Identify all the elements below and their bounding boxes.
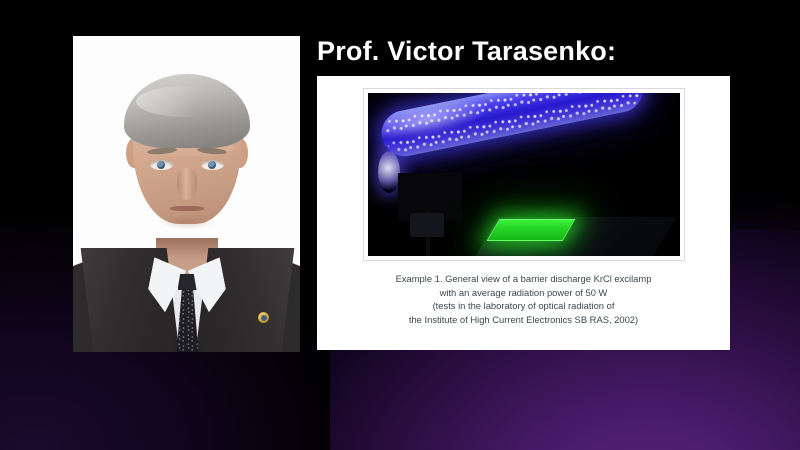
excilamp-photo bbox=[368, 93, 680, 256]
sponsor-logo-bar: FAR UVC AFRICA GMY SAFEGLO ™ EDEN PARK I… bbox=[0, 358, 800, 450]
portrait-eye-right bbox=[201, 160, 224, 170]
portrait-tie-knot bbox=[178, 274, 197, 290]
caption-line-3: (tests in the laboratory of optical radi… bbox=[317, 299, 730, 313]
portrait-chin-shadow bbox=[160, 214, 214, 230]
speaker-portrait bbox=[73, 36, 300, 352]
portrait-lapel-pin bbox=[258, 312, 269, 323]
excilamp-control-box bbox=[410, 213, 444, 237]
caption-line-1: Example 1. General view of a barrier dis… bbox=[317, 272, 730, 286]
portrait-mouth bbox=[170, 206, 204, 211]
fluorescent-plate bbox=[487, 219, 576, 241]
excilamp-end-cap-icon bbox=[378, 151, 400, 193]
excilamp-tube-icon bbox=[377, 93, 647, 161]
slide-panel: Example 1. General view of a barrier dis… bbox=[317, 76, 730, 350]
page-title: Prof. Victor Tarasenko: bbox=[317, 36, 616, 67]
caption-line-2: with an average radiation power of 50 W bbox=[317, 286, 730, 300]
caption-line-4: the Institute of High Current Electronic… bbox=[317, 313, 730, 327]
portrait-nose bbox=[177, 168, 197, 200]
figure-frame bbox=[363, 88, 685, 261]
portrait-eye-left bbox=[150, 160, 173, 170]
slide-stage: Prof. Victor Tarasenko: Example 1. Gener… bbox=[0, 0, 800, 450]
figure-caption: Example 1. General view of a barrier dis… bbox=[317, 272, 730, 326]
